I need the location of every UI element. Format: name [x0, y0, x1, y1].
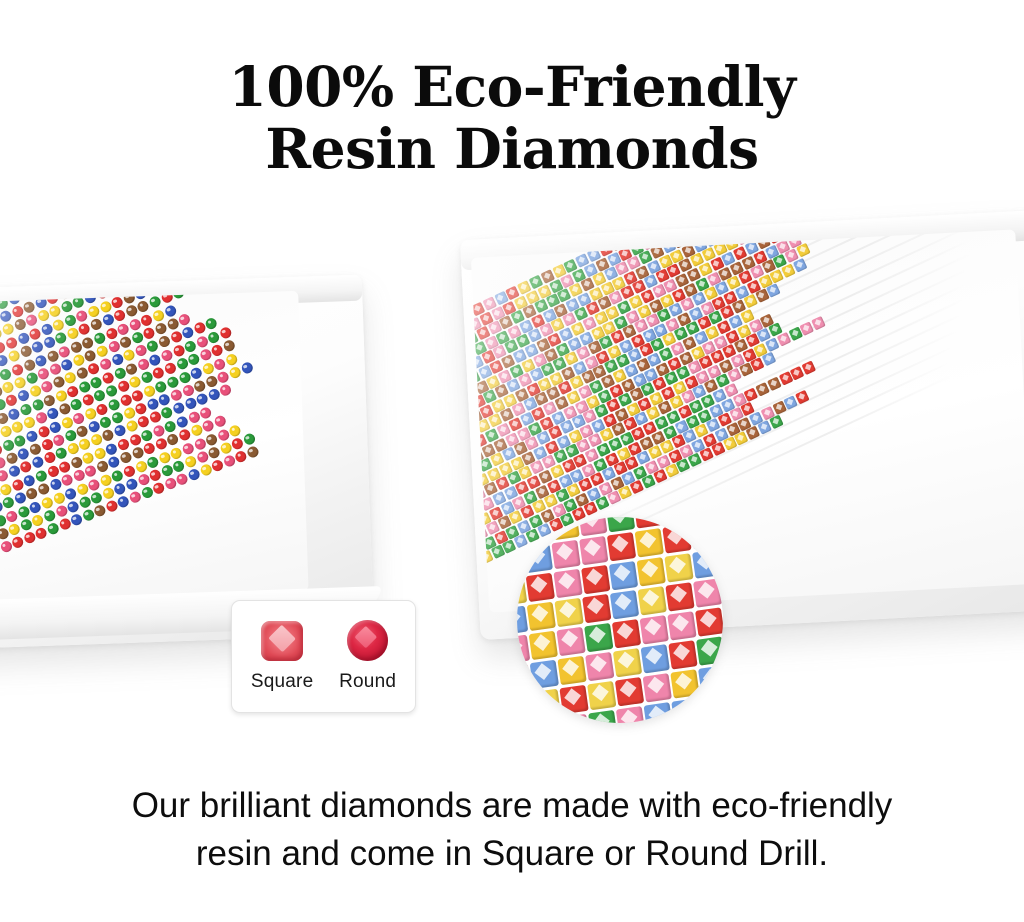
drill-bead — [72, 411, 86, 425]
headline: 100% Eco-Friendly Resin Diamonds — [0, 56, 1024, 180]
drill-bead — [86, 304, 100, 318]
drill-bead — [110, 468, 124, 482]
drill-bead — [45, 464, 59, 478]
drill-bead — [0, 482, 13, 496]
drill-bead — [10, 478, 24, 492]
drill-bead — [10, 362, 24, 376]
magnified-drill-bead — [517, 693, 533, 722]
drill-bead — [113, 308, 127, 322]
drill-bead — [175, 472, 189, 486]
magnified-drill-bead — [585, 652, 614, 681]
magnified-drill-bead — [559, 685, 588, 714]
round-drill-rows — [0, 291, 309, 603]
drill-bead — [75, 309, 89, 323]
drill-bead — [0, 540, 13, 554]
magnified-drill-bead — [517, 722, 534, 723]
magnified-drill-bead — [524, 544, 553, 573]
drill-bead — [4, 336, 18, 350]
magnified-drill-bead — [531, 689, 560, 718]
drill-bead — [51, 491, 65, 505]
drill-bead — [101, 371, 115, 385]
drill-bead — [139, 428, 153, 442]
magnified-drill-bead — [610, 590, 639, 619]
drill-bead — [104, 326, 118, 340]
magnified-drill-bead — [699, 694, 723, 723]
drill-bead — [145, 455, 159, 469]
drill-bead — [36, 367, 50, 381]
drill-bead — [195, 392, 209, 406]
drill-bead — [78, 437, 92, 451]
magnified-drill-bead — [696, 636, 723, 665]
drill-bead — [92, 389, 106, 403]
magnified-drill-bead — [608, 561, 637, 590]
drill-bead — [34, 527, 48, 541]
drill-bead — [213, 414, 227, 428]
drill-bead — [16, 331, 30, 345]
drill-bead — [31, 456, 45, 470]
drill-bead — [57, 344, 71, 358]
magnified-drill-bead — [550, 517, 579, 540]
magnified-drill-bead — [587, 681, 616, 710]
legend-label-round: Round — [339, 671, 396, 693]
drill-bead — [43, 509, 57, 523]
drill-bead — [216, 428, 230, 442]
magnified-drill-bead — [581, 565, 610, 594]
drill-bead — [225, 352, 239, 366]
magnified-drill-bead — [605, 517, 634, 532]
square-gem-icon — [261, 621, 303, 661]
drill-bead — [98, 357, 112, 371]
drill-bead — [116, 495, 130, 509]
drill-bead — [13, 376, 27, 390]
magnified-drill-bead — [665, 582, 694, 611]
drill-bead — [110, 353, 124, 367]
drill-bead — [7, 407, 21, 421]
drill-bead — [136, 415, 150, 429]
magnified-drill-bead — [671, 698, 700, 723]
drill-bead — [57, 402, 71, 416]
drill-bead — [81, 451, 95, 465]
magnified-drill-bead — [670, 669, 699, 698]
drill-bead — [189, 366, 203, 380]
drill-bead — [178, 428, 192, 442]
drill-bead — [34, 411, 48, 425]
headline-line-2: Resin Diamonds — [0, 118, 1024, 180]
drill-bead — [51, 375, 65, 389]
drill-bead — [811, 316, 826, 331]
drill-bead — [151, 366, 165, 380]
magnified-drill-bead — [525, 573, 554, 602]
drill-bead — [239, 361, 253, 375]
drill-bead — [113, 424, 127, 438]
drill-bead — [245, 445, 259, 459]
drill-bead — [762, 352, 777, 367]
drill-bead — [192, 321, 206, 335]
magnified-drill-bead — [644, 702, 673, 723]
drill-bead — [42, 393, 56, 407]
drill-bead — [86, 362, 100, 376]
tray-well — [0, 291, 309, 603]
drill-bead — [10, 536, 24, 550]
drill-bead — [98, 300, 112, 314]
drill-bead — [166, 375, 180, 389]
drill-bead — [160, 348, 174, 362]
magnified-drill-bead — [633, 517, 662, 528]
drill-bead — [148, 468, 162, 482]
magnified-drill-bead — [616, 706, 645, 723]
drill-bead — [28, 500, 42, 514]
drill-bead — [54, 446, 68, 460]
drill-bead — [204, 317, 218, 331]
drill-bead — [180, 326, 194, 340]
magnified-drill-bead — [530, 660, 559, 689]
drill-bead — [641, 475, 656, 490]
drill-bead — [87, 477, 101, 491]
drill-bead — [125, 362, 139, 376]
magnified-drill-bead — [551, 540, 580, 569]
round-gem-icon — [347, 620, 388, 661]
drill-bead — [60, 358, 74, 372]
magnified-drill-bead — [642, 673, 671, 702]
magnified-drill-bead — [635, 528, 664, 557]
drill-bead — [107, 397, 121, 411]
drill-bead — [204, 432, 218, 446]
magnified-rows — [517, 517, 723, 723]
drill-bead — [34, 469, 48, 483]
magnified-drill-bead — [579, 536, 608, 565]
drill-bead — [57, 518, 71, 532]
drill-bead — [92, 446, 106, 460]
drill-bead — [181, 441, 195, 455]
caption-line-2: resin and come in Square or Round Drill. — [42, 830, 982, 878]
drill-bead — [228, 365, 242, 379]
drill-bead — [201, 419, 215, 433]
drill-bead — [48, 420, 62, 434]
drill-bead — [163, 304, 177, 318]
drill-bead — [131, 388, 145, 402]
drill-bead — [242, 432, 256, 446]
caption-line-1: Our brilliant diamonds are made with eco… — [42, 782, 982, 830]
drill-bead — [119, 451, 133, 465]
drill-bead — [139, 370, 153, 384]
drill-bead — [39, 380, 53, 394]
headline-line-1: 100% Eco-Friendly — [0, 56, 1024, 118]
drill-bead — [795, 389, 810, 404]
drill-bead — [40, 495, 54, 509]
magnified-drill-bead — [557, 656, 586, 685]
drill-bead — [84, 464, 98, 478]
drill-bead — [184, 455, 198, 469]
drill-bead — [139, 313, 153, 327]
magnified-drill-bead — [554, 598, 583, 627]
drill-bead — [186, 352, 200, 366]
drill-bead — [151, 308, 165, 322]
drill-bead — [30, 340, 44, 354]
drill-bead — [128, 490, 142, 504]
drill-bead — [63, 371, 77, 385]
drill-bead — [45, 349, 59, 363]
drill-bead — [93, 504, 107, 518]
product-promo-image: 100% Eco-Friendly Resin Diamonds Square … — [0, 0, 1024, 922]
drill-bead — [69, 513, 83, 527]
drill-bead — [89, 317, 103, 331]
drill-bead — [60, 473, 74, 487]
magnified-drill-bead — [578, 517, 607, 536]
magnified-drill-bead — [664, 553, 693, 582]
drill-bead — [63, 313, 77, 327]
magnified-drill-bead — [522, 517, 551, 544]
legend-item-round: Round — [339, 620, 396, 693]
drill-bead — [92, 331, 106, 345]
magnified-drill-bead — [641, 644, 670, 673]
drill-bead — [183, 339, 197, 353]
magnified-drill-bead — [517, 664, 531, 693]
drill-bead — [172, 401, 186, 415]
drill-bead — [104, 384, 118, 398]
drill-bead — [157, 335, 171, 349]
drill-bead — [0, 367, 12, 381]
drill-bead — [207, 446, 221, 460]
drill-bead — [134, 459, 148, 473]
drill-bead — [163, 419, 177, 433]
drill-bead — [51, 318, 65, 332]
caption: Our brilliant diamonds are made with eco… — [42, 782, 982, 878]
drill-bead — [75, 482, 89, 496]
drill-bead — [25, 429, 39, 443]
drill-bead — [66, 500, 80, 514]
magnified-drill-bead — [582, 594, 611, 623]
magnified-drill-bead — [636, 557, 665, 586]
drill-bead — [7, 522, 21, 536]
drill-bead — [10, 420, 24, 434]
drill-bead — [22, 358, 36, 372]
drill-shape-legend: Square Round — [231, 600, 416, 713]
drill-bead — [148, 295, 162, 309]
drill-bead — [45, 407, 59, 421]
drill-bead — [163, 361, 177, 375]
drill-bead — [151, 424, 165, 438]
drill-bead — [119, 335, 133, 349]
drill-bead — [22, 416, 36, 430]
drill-bead — [25, 487, 39, 501]
drill-bead — [48, 304, 62, 318]
drill-bead — [1, 322, 15, 336]
drill-bead — [128, 433, 142, 447]
drill-bead — [142, 442, 156, 456]
drill-bead — [13, 433, 27, 447]
drill-bead — [104, 499, 118, 513]
drill-bead — [796, 243, 811, 258]
drill-bead — [104, 442, 118, 456]
magnified-drill-bead — [607, 532, 636, 561]
magnified-drill-bead — [692, 549, 721, 578]
magnified-drill-bead — [528, 631, 557, 660]
magnified-drill-bead — [517, 635, 530, 664]
drill-bead — [175, 357, 189, 371]
drill-bead — [157, 450, 171, 464]
drill-bead — [116, 322, 130, 336]
round-drill-tray — [0, 275, 374, 650]
magnified-drill-bead — [556, 627, 585, 656]
drill-bead — [122, 348, 136, 362]
drill-bead — [19, 460, 33, 474]
drill-bead — [1, 380, 15, 394]
drill-bead — [1, 496, 15, 510]
drill-bead — [127, 317, 141, 331]
drill-bead — [39, 322, 53, 336]
drill-bead — [22, 531, 36, 545]
drill-bead — [219, 383, 233, 397]
drill-bead — [54, 331, 68, 345]
drill-bead — [163, 477, 177, 491]
legend-label-square: Square — [251, 671, 313, 693]
drill-bead — [81, 393, 95, 407]
drill-bead — [69, 340, 83, 354]
drill-bead — [28, 384, 42, 398]
magnified-drill-bead — [695, 607, 723, 636]
drill-bead — [7, 349, 21, 363]
drill-bead — [80, 335, 94, 349]
drill-bead — [198, 348, 212, 362]
drill-bead — [90, 491, 104, 505]
magnified-drill-bead — [662, 524, 691, 553]
drill-bead — [234, 450, 248, 464]
drill-bead — [145, 339, 159, 353]
magnified-drill-bead — [639, 615, 668, 644]
drill-bead — [69, 398, 83, 412]
drill-bead — [133, 344, 147, 358]
magnified-drill-bead — [668, 640, 697, 669]
magnified-drill-bead — [533, 718, 562, 723]
magnified-drill-bead — [690, 520, 719, 549]
drill-bead — [116, 379, 130, 393]
drill-bead — [699, 448, 714, 463]
drill-bead — [222, 454, 236, 468]
magnified-drill-bead — [613, 648, 642, 677]
drill-bead — [802, 360, 817, 375]
drill-bead — [219, 326, 233, 340]
magnified-drill-bead — [588, 710, 617, 723]
magnified-drill-bead — [527, 602, 556, 631]
drill-bead — [66, 384, 80, 398]
drill-bead — [95, 344, 109, 358]
drill-bead — [69, 455, 83, 469]
drill-bead — [471, 546, 474, 561]
drill-bead — [4, 394, 18, 408]
magnified-drill-bead — [584, 623, 613, 652]
drill-bead — [45, 522, 59, 536]
drill-bead — [151, 481, 165, 495]
drill-bead — [75, 366, 89, 380]
magnified-drill-bead — [614, 677, 643, 706]
drill-bead — [128, 375, 142, 389]
drill-bead — [37, 482, 51, 496]
drill-bead — [16, 504, 30, 518]
drill-bead — [122, 464, 136, 478]
drill-bead — [228, 423, 242, 437]
drill-bead — [169, 446, 183, 460]
drill-bead — [19, 402, 33, 416]
drill-bead — [471, 507, 472, 522]
drill-bead — [192, 437, 206, 451]
magnified-drill-bead — [560, 714, 589, 723]
drill-bead — [16, 389, 30, 403]
magnified-drill-bead — [611, 619, 640, 648]
magnified-drill-bead — [553, 569, 582, 598]
drill-bead — [186, 410, 200, 424]
drill-bead — [210, 343, 224, 357]
drill-bead — [154, 322, 168, 336]
drill-bead — [31, 513, 45, 527]
drill-bead — [169, 330, 183, 344]
drill-bead — [125, 477, 139, 491]
legend-item-square: Square — [251, 621, 313, 693]
drill-bead — [222, 339, 236, 353]
drill-bead — [140, 486, 154, 500]
magnified-drill-bead — [698, 665, 723, 694]
drill-bead — [0, 425, 12, 439]
drill-bead — [210, 459, 224, 473]
drill-bead — [22, 473, 36, 487]
drill-bead — [116, 437, 130, 451]
drill-bead — [177, 313, 191, 327]
magnified-drill-bead — [667, 611, 696, 640]
drill-bead — [25, 313, 39, 327]
drill-bead — [98, 473, 112, 487]
magnified-square-drills-inset — [517, 517, 723, 723]
drill-bead — [198, 406, 212, 420]
drill-bead — [175, 415, 189, 429]
magnified-drill-bead — [638, 586, 667, 615]
drill-bead — [198, 463, 212, 477]
drill-bead — [187, 468, 201, 482]
drill-bead — [81, 508, 95, 522]
magnified-drill-bead — [693, 578, 722, 607]
drill-bead — [110, 295, 124, 309]
drill-bead — [757, 421, 772, 436]
